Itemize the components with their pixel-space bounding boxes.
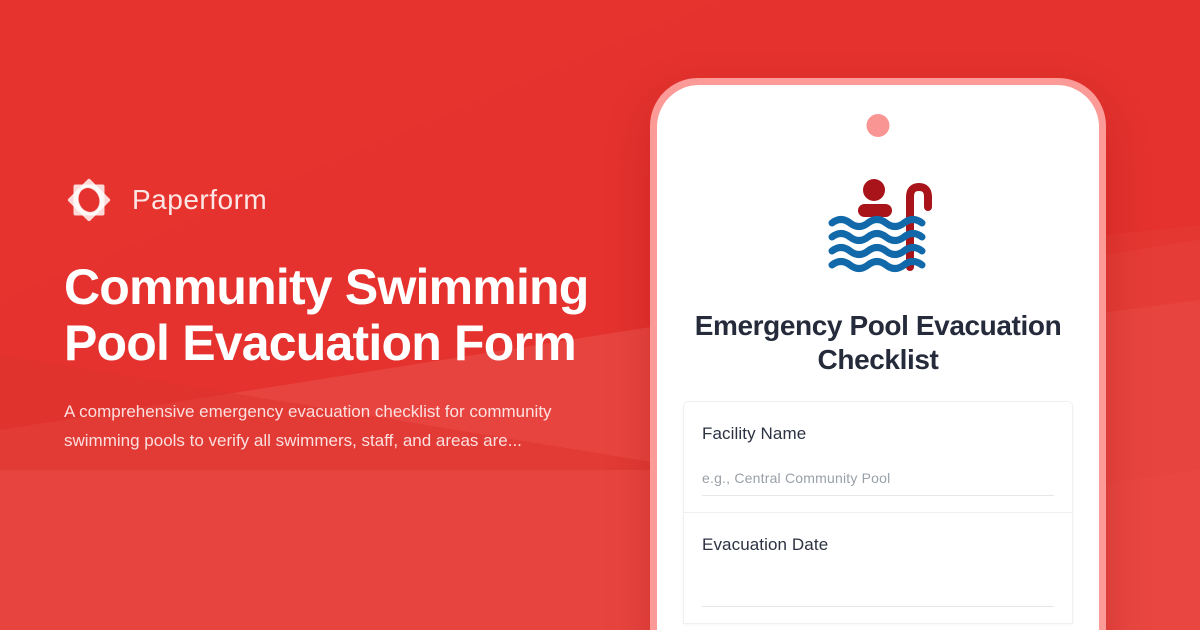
phone-screen: Emergency Pool Evacuation Checklist Faci… [657, 85, 1099, 630]
form-field-facility-name[interactable]: Facility Name e.g., Central Community Po… [683, 401, 1073, 512]
camera-dot-icon [867, 114, 890, 137]
hero-section: Paperform Community Swimming Pool Evacua… [64, 0, 624, 630]
swimmer-pool-ladder-icon [818, 157, 938, 277]
field-label: Facility Name [702, 424, 1054, 444]
page-description: A comprehensive emergency evacuation che… [64, 397, 564, 455]
brand-name: Paperform [132, 184, 267, 216]
paperform-star-logo-icon [64, 175, 114, 225]
form-field-evacuation-date[interactable]: Evacuation Date [683, 512, 1073, 624]
phone-mockup: Emergency Pool Evacuation Checklist Faci… [650, 78, 1106, 630]
field-label: Evacuation Date [702, 535, 1054, 555]
form-title: Emergency Pool Evacuation Checklist [683, 309, 1073, 377]
evacuation-date-input[interactable] [702, 581, 1054, 607]
page-title: Community Swimming Pool Evacuation Form [64, 259, 609, 371]
facility-name-input[interactable]: e.g., Central Community Pool [702, 470, 1054, 496]
form-icon-container [657, 157, 1099, 277]
form-fields-list: Facility Name e.g., Central Community Po… [683, 401, 1073, 624]
brand-lockup: Paperform [64, 175, 624, 225]
